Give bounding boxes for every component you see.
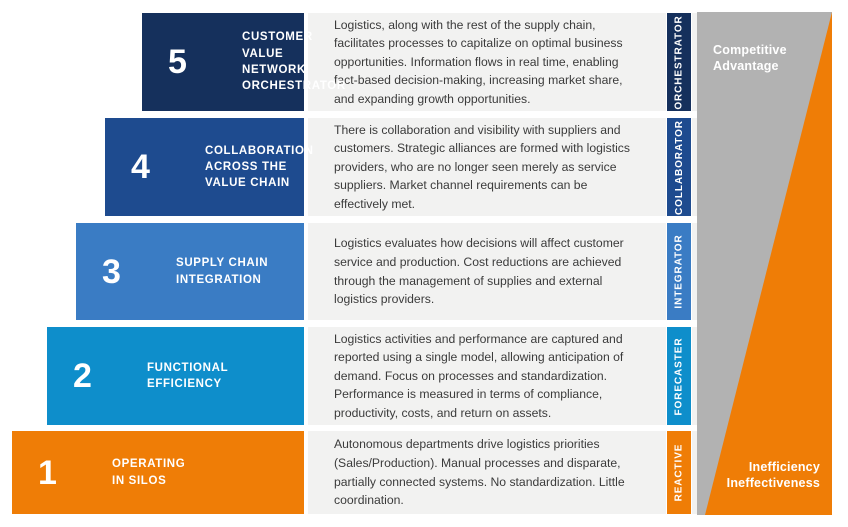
level-1-number: 1: [38, 456, 112, 490]
level-4-description-panel: There is collaboration and visibility wi…: [308, 117, 700, 217]
level-1-description-panel: Autonomous departments drive logistics p…: [308, 430, 700, 515]
level-3-tab-label: INTEGRATOR: [674, 234, 685, 308]
level-5-block[interactable]: 5 CUSTOMERVALUE NETWORKORCHESTRATOR: [141, 12, 305, 112]
level-1-tab-label: REACTIVE: [674, 444, 685, 502]
level-3-tab[interactable]: INTEGRATOR: [666, 222, 692, 321]
inefficiency-ineffectiveness-label: InefficiencyIneffectiveness: [727, 459, 820, 492]
level-4-block[interactable]: 4 COLLABORATIONACROSS THEVALUE CHAIN: [104, 117, 305, 217]
level-4-title: COLLABORATIONACROSS THEVALUE CHAIN: [205, 143, 314, 192]
level-3-block[interactable]: 3 SUPPLY CHAININTEGRATION: [75, 222, 305, 321]
level-3-title: SUPPLY CHAININTEGRATION: [176, 255, 290, 288]
competitive-advantage-panel: CompetitiveAdvantage InefficiencyIneffec…: [697, 12, 832, 515]
level-1-description: Autonomous departments drive logistics p…: [334, 435, 634, 509]
level-4-description: There is collaboration and visibility wi…: [334, 121, 634, 214]
level-4-number: 4: [131, 150, 205, 184]
level-5-description-panel: Logistics, along with the rest of the su…: [308, 12, 700, 112]
advantage-gradient-wedge: [697, 12, 832, 515]
level-2-block[interactable]: 2 FUNCTIONALEFFICIENCY: [46, 326, 305, 426]
level-5-description: Logistics, along with the rest of the su…: [334, 16, 634, 109]
level-1-tab[interactable]: REACTIVE: [666, 430, 692, 515]
level-5-title: CUSTOMERVALUE NETWORKORCHESTRATOR: [242, 29, 346, 94]
competitive-advantage-label: CompetitiveAdvantage: [713, 42, 787, 75]
level-2-number: 2: [73, 359, 147, 393]
level-2-title: FUNCTIONALEFFICIENCY: [147, 360, 290, 393]
level-5-tab[interactable]: ORCHESTRATOR: [666, 12, 692, 112]
level-3-number: 3: [102, 255, 176, 289]
level-1-title: OPERATINGIN SILOS: [112, 456, 290, 489]
maturity-model-diagram: Logistics, along with the rest of the su…: [0, 0, 848, 527]
level-1-block[interactable]: 1 OPERATINGIN SILOS: [11, 430, 305, 515]
level-2-description: Logistics activities and performance are…: [334, 330, 634, 423]
level-5-number: 5: [168, 45, 242, 79]
level-5-tab-label: ORCHESTRATOR: [674, 15, 685, 109]
level-3-description-panel: Logistics evaluates how decisions will a…: [308, 222, 700, 321]
level-4-tab[interactable]: COLLABORATOR: [666, 117, 692, 217]
level-4-tab-label: COLLABORATOR: [674, 120, 685, 215]
level-2-tab[interactable]: FORECASTER: [666, 326, 692, 426]
level-3-description: Logistics evaluates how decisions will a…: [334, 234, 634, 308]
level-2-description-panel: Logistics activities and performance are…: [308, 326, 700, 426]
level-2-tab-label: FORECASTER: [674, 337, 685, 415]
